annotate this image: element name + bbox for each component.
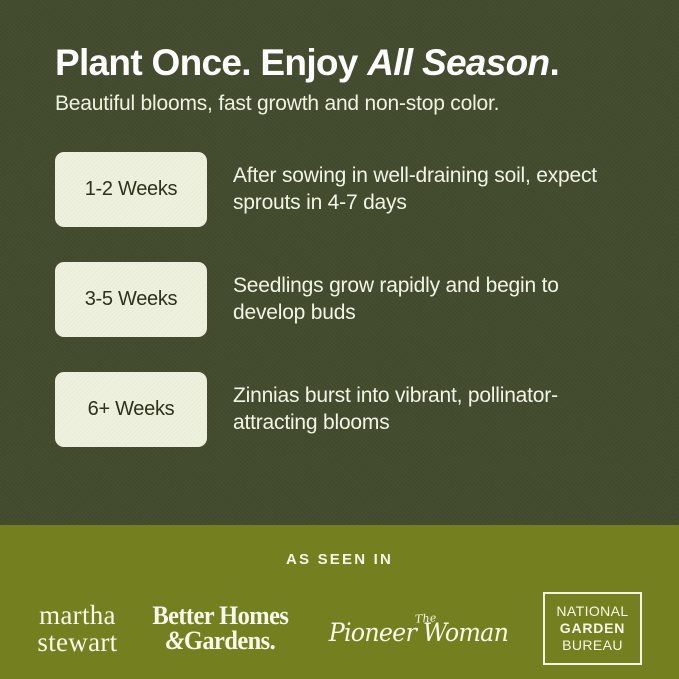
headline-text-tail: . bbox=[549, 42, 559, 83]
logo-bhg-line2: &Gardens. bbox=[153, 629, 289, 654]
logo-bhg-gardens: Gardens. bbox=[184, 626, 275, 655]
press-mentions-band: AS SEEN IN martha stewart Better Homes &… bbox=[0, 525, 679, 679]
press-logo-row: martha stewart Better Homes &Gardens. Th… bbox=[0, 592, 679, 665]
growth-timeline: 1-2 Weeks After sowing in well-draining … bbox=[55, 152, 625, 447]
timeline-row: 1-2 Weeks After sowing in well-draining … bbox=[55, 152, 625, 227]
logo-martha-stewart-line2: stewart bbox=[37, 629, 117, 655]
headline-text-lead: Plant Once. Enjoy bbox=[55, 42, 367, 83]
timeline-row: 3-5 Weeks Seedlings grow rapidly and beg… bbox=[55, 262, 625, 337]
logo-ngb-line1: NATIONAL bbox=[556, 603, 628, 620]
headline-emphasis: All Season bbox=[367, 42, 549, 83]
logo-martha-stewart-line1: martha bbox=[39, 600, 116, 630]
timeline-row: 6+ Weeks Zinnias burst into vibrant, pol… bbox=[55, 372, 625, 447]
logo-better-homes-and-gardens: Better Homes &Gardens. bbox=[153, 604, 289, 653]
logo-the-pioneer-woman: The Pioneer Woman bbox=[324, 613, 513, 645]
as-seen-in-heading: AS SEEN IN bbox=[286, 551, 393, 568]
timeline-description-stage-3: Zinnias burst into vibrant, pollinator-a… bbox=[233, 382, 625, 437]
logo-ngb-line2: GARDEN bbox=[556, 620, 628, 637]
logo-pioneer-name: Pioneer Woman bbox=[328, 620, 507, 645]
logo-bhg-ampersand: & bbox=[166, 626, 184, 655]
hero-panel: Plant Once. Enjoy All Season. Beautiful … bbox=[0, 0, 679, 525]
page-title: Plant Once. Enjoy All Season. bbox=[55, 42, 625, 83]
page-subtitle: Beautiful blooms, fast growth and non-st… bbox=[55, 91, 625, 117]
timeline-badge-stage-1: 1-2 Weeks bbox=[55, 152, 207, 227]
logo-national-garden-bureau: NATIONAL GARDEN BUREAU bbox=[543, 592, 641, 665]
timeline-description-stage-1: After sowing in well-draining soil, expe… bbox=[233, 162, 625, 217]
timeline-badge-stage-3: 6+ Weeks bbox=[55, 372, 207, 447]
timeline-description-stage-2: Seedlings grow rapidly and begin to deve… bbox=[233, 272, 625, 327]
logo-ngb-line3: BUREAU bbox=[556, 637, 628, 654]
timeline-badge-stage-2: 3-5 Weeks bbox=[55, 262, 207, 337]
logo-martha-stewart: martha stewart bbox=[37, 602, 117, 655]
promo-infographic: Plant Once. Enjoy All Season. Beautiful … bbox=[0, 0, 679, 679]
